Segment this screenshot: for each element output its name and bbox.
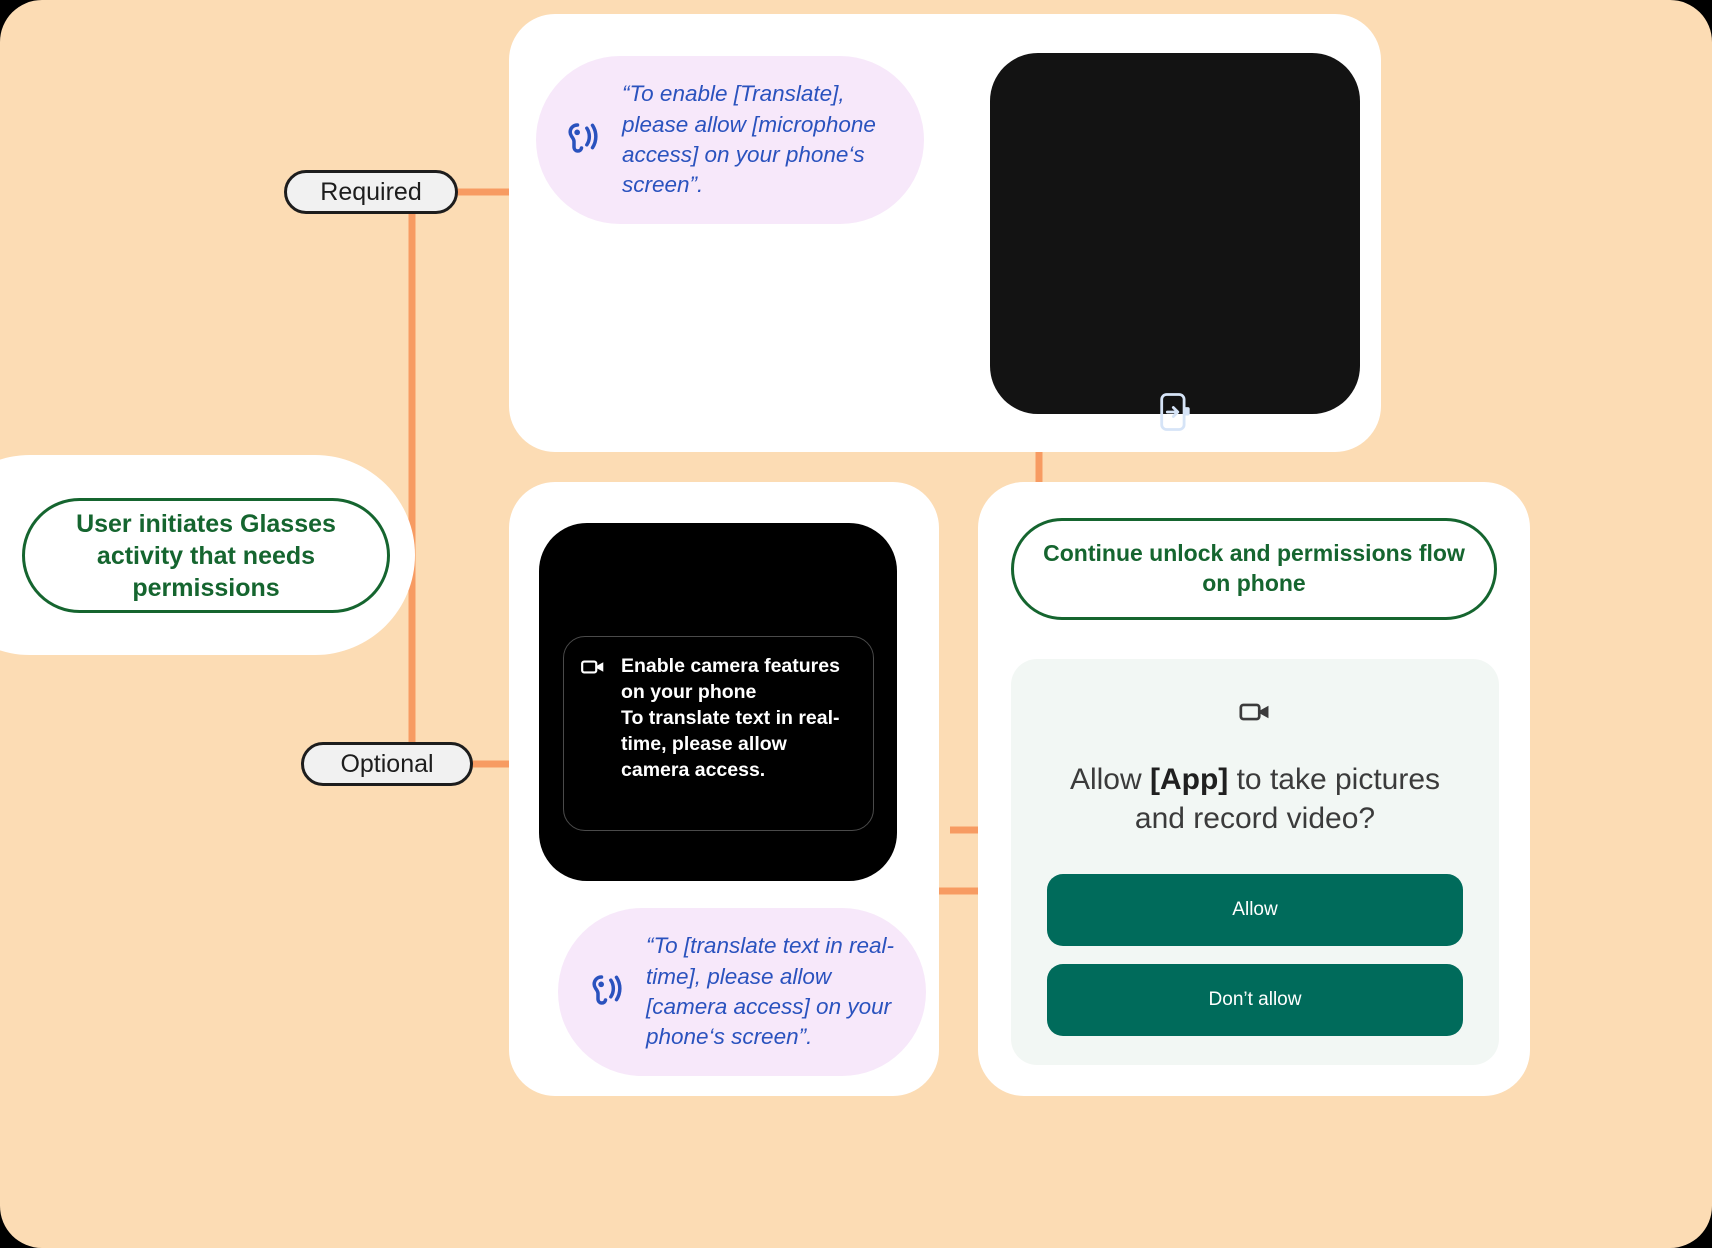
allow-button[interactable]: Allow bbox=[1047, 874, 1463, 946]
start-node[interactable]: User initiates Glasses activity that nee… bbox=[22, 498, 390, 613]
start-node-label: User initiates Glasses activity that nee… bbox=[51, 508, 361, 604]
glasses-camera-body: To translate text in real-time, please a… bbox=[621, 706, 859, 784]
dont-allow-button[interactable]: Don’t allow bbox=[1047, 964, 1463, 1036]
dialog-question: Allow [App] to take pictures and record … bbox=[1041, 760, 1469, 838]
glasses-display-unlock bbox=[990, 53, 1360, 414]
glasses-camera-title: Enable camera features on your phone bbox=[621, 654, 859, 706]
microphone-prompt-text: “To enable [Translate], please allow [mi… bbox=[622, 79, 898, 201]
branch-label-optional-text: Optional bbox=[340, 750, 433, 779]
diagram-canvas: User initiates Glasses activity that nee… bbox=[0, 0, 1712, 1248]
ear-hearing-icon bbox=[560, 118, 600, 163]
glasses-display-camera: Enable camera features on your phone To … bbox=[539, 523, 897, 881]
dialog-question-prefix: Allow bbox=[1070, 763, 1150, 796]
camera-voice-prompt-bubble: “To [translate text in real-time], pleas… bbox=[558, 908, 926, 1076]
continue-on-phone-node[interactable]: Continue unlock and permissions flow on … bbox=[1011, 518, 1497, 620]
android-permission-dialog: Allow [App] to take pictures and record … bbox=[1011, 659, 1499, 1065]
branch-label-required-text: Required bbox=[320, 178, 421, 207]
video-camera-icon bbox=[1238, 695, 1272, 734]
continue-on-phone-label: Continue unlock and permissions flow on … bbox=[1038, 539, 1470, 599]
glasses-camera-notification-card: Enable camera features on your phone To … bbox=[563, 636, 874, 831]
branch-label-optional[interactable]: Optional bbox=[301, 742, 473, 786]
ear-hearing-icon bbox=[584, 970, 624, 1015]
dialog-question-app: [App] bbox=[1150, 763, 1228, 796]
camera-prompt-text: “To [translate text in real-time], pleas… bbox=[646, 931, 904, 1053]
branch-label-required[interactable]: Required bbox=[284, 170, 458, 214]
video-camera-icon bbox=[580, 654, 606, 830]
continue-on-phone-icon bbox=[1158, 391, 1192, 438]
microphone-voice-prompt-bubble: “To enable [Translate], please allow [mi… bbox=[536, 56, 924, 224]
